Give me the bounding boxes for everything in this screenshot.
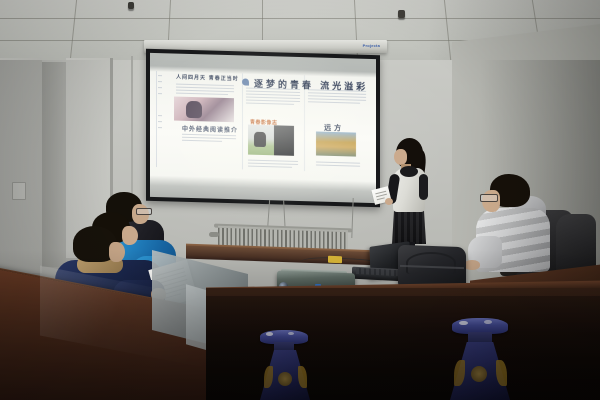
radiator-pipe [209, 232, 219, 237]
sprinkler-icon [128, 2, 134, 9]
eyeglasses-icon [480, 194, 498, 202]
conference-room-photo: Projecta 人间四月天 青春正当时 逐梦的青春 流光溢彩 [0, 0, 600, 400]
yellow-adapter[interactable] [328, 256, 342, 263]
vase-medallion [471, 366, 487, 382]
slide-logo-mark [242, 78, 249, 85]
slide-photo-autumn [316, 131, 356, 156]
sprinkler-icon [398, 10, 405, 18]
screen-brand-label: Projecta [363, 43, 380, 48]
decorative-vase-right [448, 318, 516, 400]
vase-gold-handle [298, 366, 307, 388]
projected-slide: 人间四月天 青春正当时 逐梦的青春 流光溢彩 中外经典阅读推介 青春影像志 [154, 69, 372, 183]
right-sleeve [419, 174, 428, 200]
attendee-right[interactable] [468, 174, 560, 284]
slide-photo-couple [174, 97, 234, 123]
vase-gold-handle [496, 360, 507, 386]
skirt-pleats [392, 210, 426, 244]
face [394, 149, 407, 165]
decorative-vase-left [258, 330, 320, 400]
slide-photo-grass [248, 125, 274, 156]
face [109, 242, 125, 262]
slide-headline-left: 人间四月天 青春正当时 [176, 74, 239, 83]
bag-strap [406, 252, 456, 274]
vase-medallion [278, 372, 292, 386]
slide-photo-dark [272, 125, 294, 156]
collar [400, 166, 418, 177]
slide-headline-sub: 中外经典阅读推介 [182, 124, 238, 135]
hand [464, 260, 480, 270]
hand [385, 198, 393, 205]
